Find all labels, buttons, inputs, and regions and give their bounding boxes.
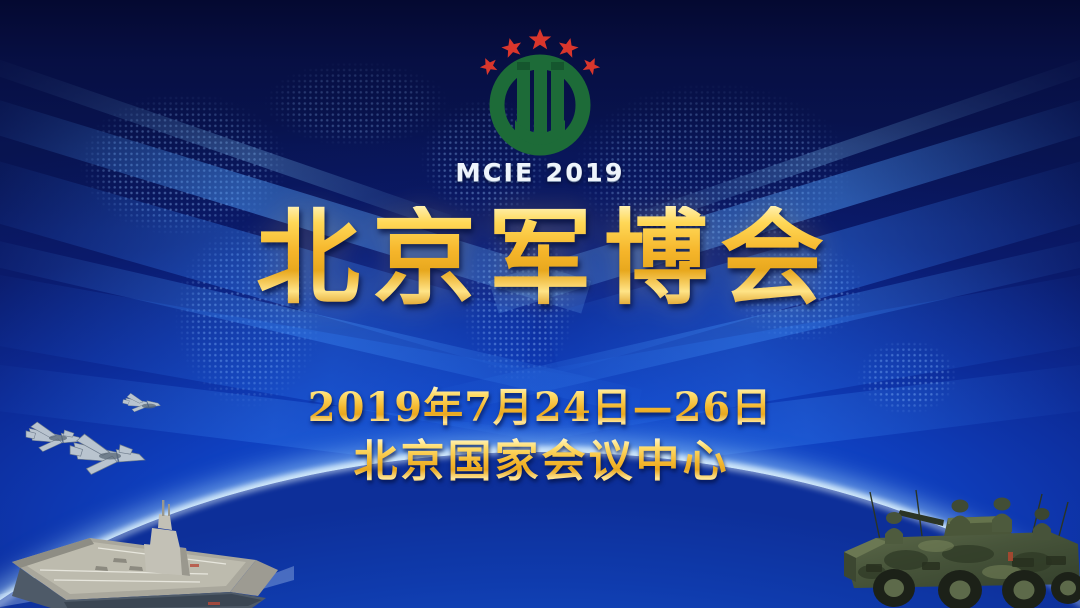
logo-block: MCIE 2019	[0, 22, 1080, 187]
event-poster: MCIE 2019 北京军博会 2019年7月24日—26日 北京国家会议中心	[0, 0, 1080, 608]
page-title: 北京军博会	[0, 206, 1080, 310]
logo-wordmark: MCIE 2019	[455, 158, 624, 187]
armored-personnel-carrier-icon	[836, 488, 1080, 608]
fighter-jet-formation-icon	[4, 386, 214, 486]
aircraft-carrier-icon	[0, 492, 294, 608]
mcie-emblem-icon	[465, 22, 615, 162]
